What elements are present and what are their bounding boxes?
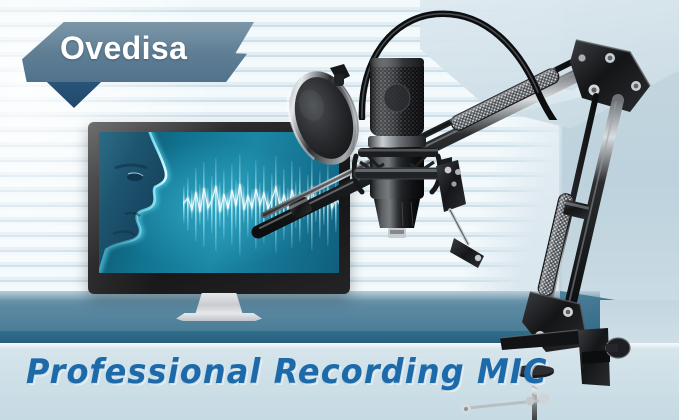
brand-name: Ovedisa [60, 30, 187, 67]
boom-lower-segment [537, 96, 618, 306]
mic-mount-knuckle [434, 160, 504, 270]
headline-text: Professional Recording MIC [26, 352, 548, 392]
product-photo-scene: Ovedisa Professional Recording MIC [0, 0, 679, 420]
mic-grille [370, 58, 424, 136]
